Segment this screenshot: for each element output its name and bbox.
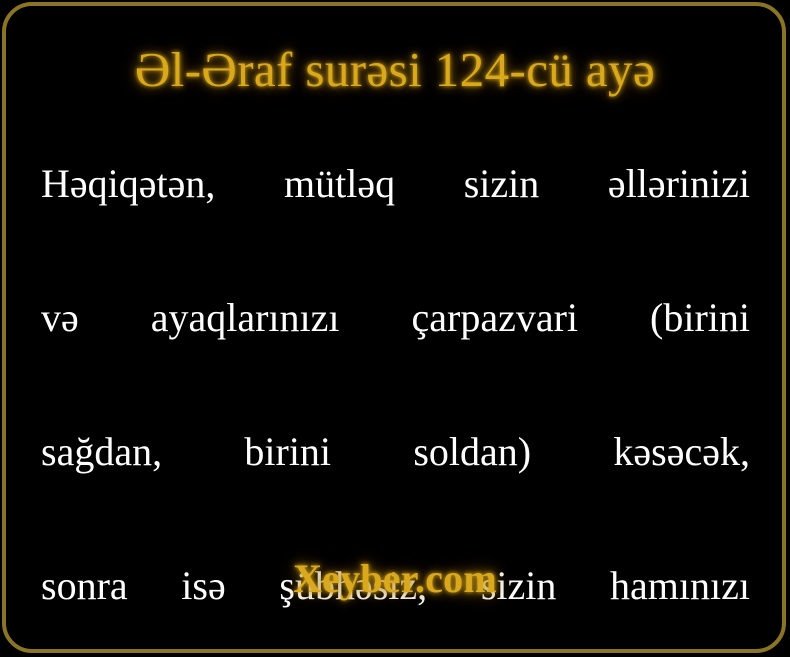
verse-line: və ayaqlarınızı çarpazvari (birini (41, 284, 750, 418)
page-title: Əl-Əraf surəsi 124-cü ayə (0, 41, 790, 99)
site-watermark: Xeyber.com (0, 556, 790, 602)
verse-line: Həqiqətən, mütləq sizin əllərinizi (41, 150, 750, 284)
card-content: Əl-Əraf surəsi 124-cü ayə Həqiqətən, müt… (0, 0, 790, 657)
verse-card: Əl-Əraf surəsi 124-cü ayə Həqiqətən, müt… (0, 0, 790, 657)
verse-line: sağdan, birini soldan) kəsəcək, (41, 418, 750, 552)
